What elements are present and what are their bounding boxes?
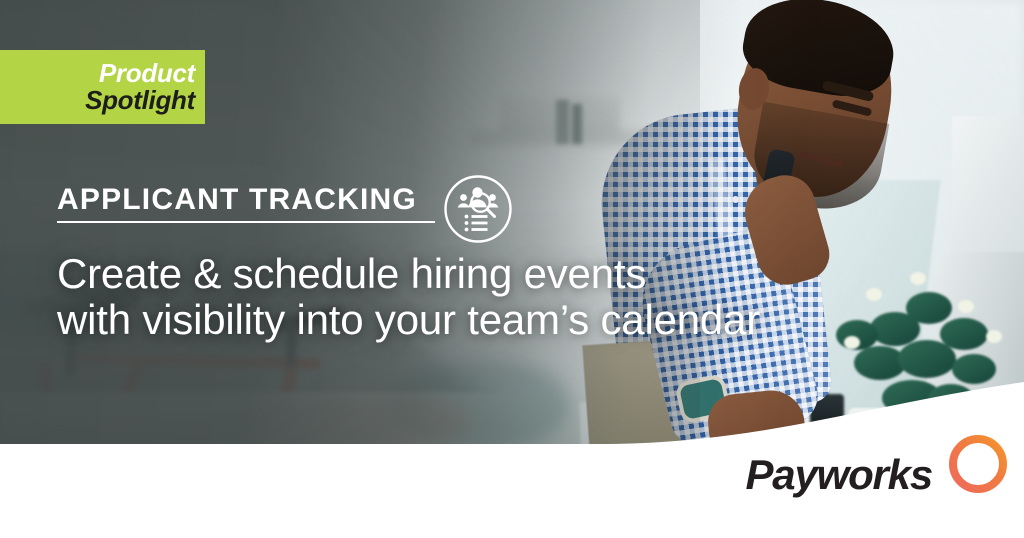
eyebrow-underline — [57, 221, 435, 223]
product-spotlight-badge: Product Spotlight — [0, 50, 205, 124]
headline-line-1: Create & schedule hiring events — [57, 251, 847, 297]
payworks-ring-icon — [946, 432, 1010, 496]
headline: Create & schedule hiring events with vis… — [57, 251, 847, 343]
eyebrow-label: APPLICANT TRACKING — [57, 183, 477, 217]
headline-line-2: with visibility into your team’s calenda… — [57, 297, 847, 343]
badge-line-spotlight: Spotlight — [85, 87, 195, 114]
payworks-logo: Payworks — [745, 432, 1010, 518]
eyebrow-wrapper: APPLICANT TRACKING — [57, 183, 477, 217]
applicant-tracking-icon — [443, 174, 513, 244]
payworks-wordmark: Payworks — [745, 451, 932, 499]
product-spotlight-banner: Product Spotlight APPLICANT TRACKING Cre… — [0, 0, 1024, 538]
badge-line-product: Product — [99, 60, 195, 87]
